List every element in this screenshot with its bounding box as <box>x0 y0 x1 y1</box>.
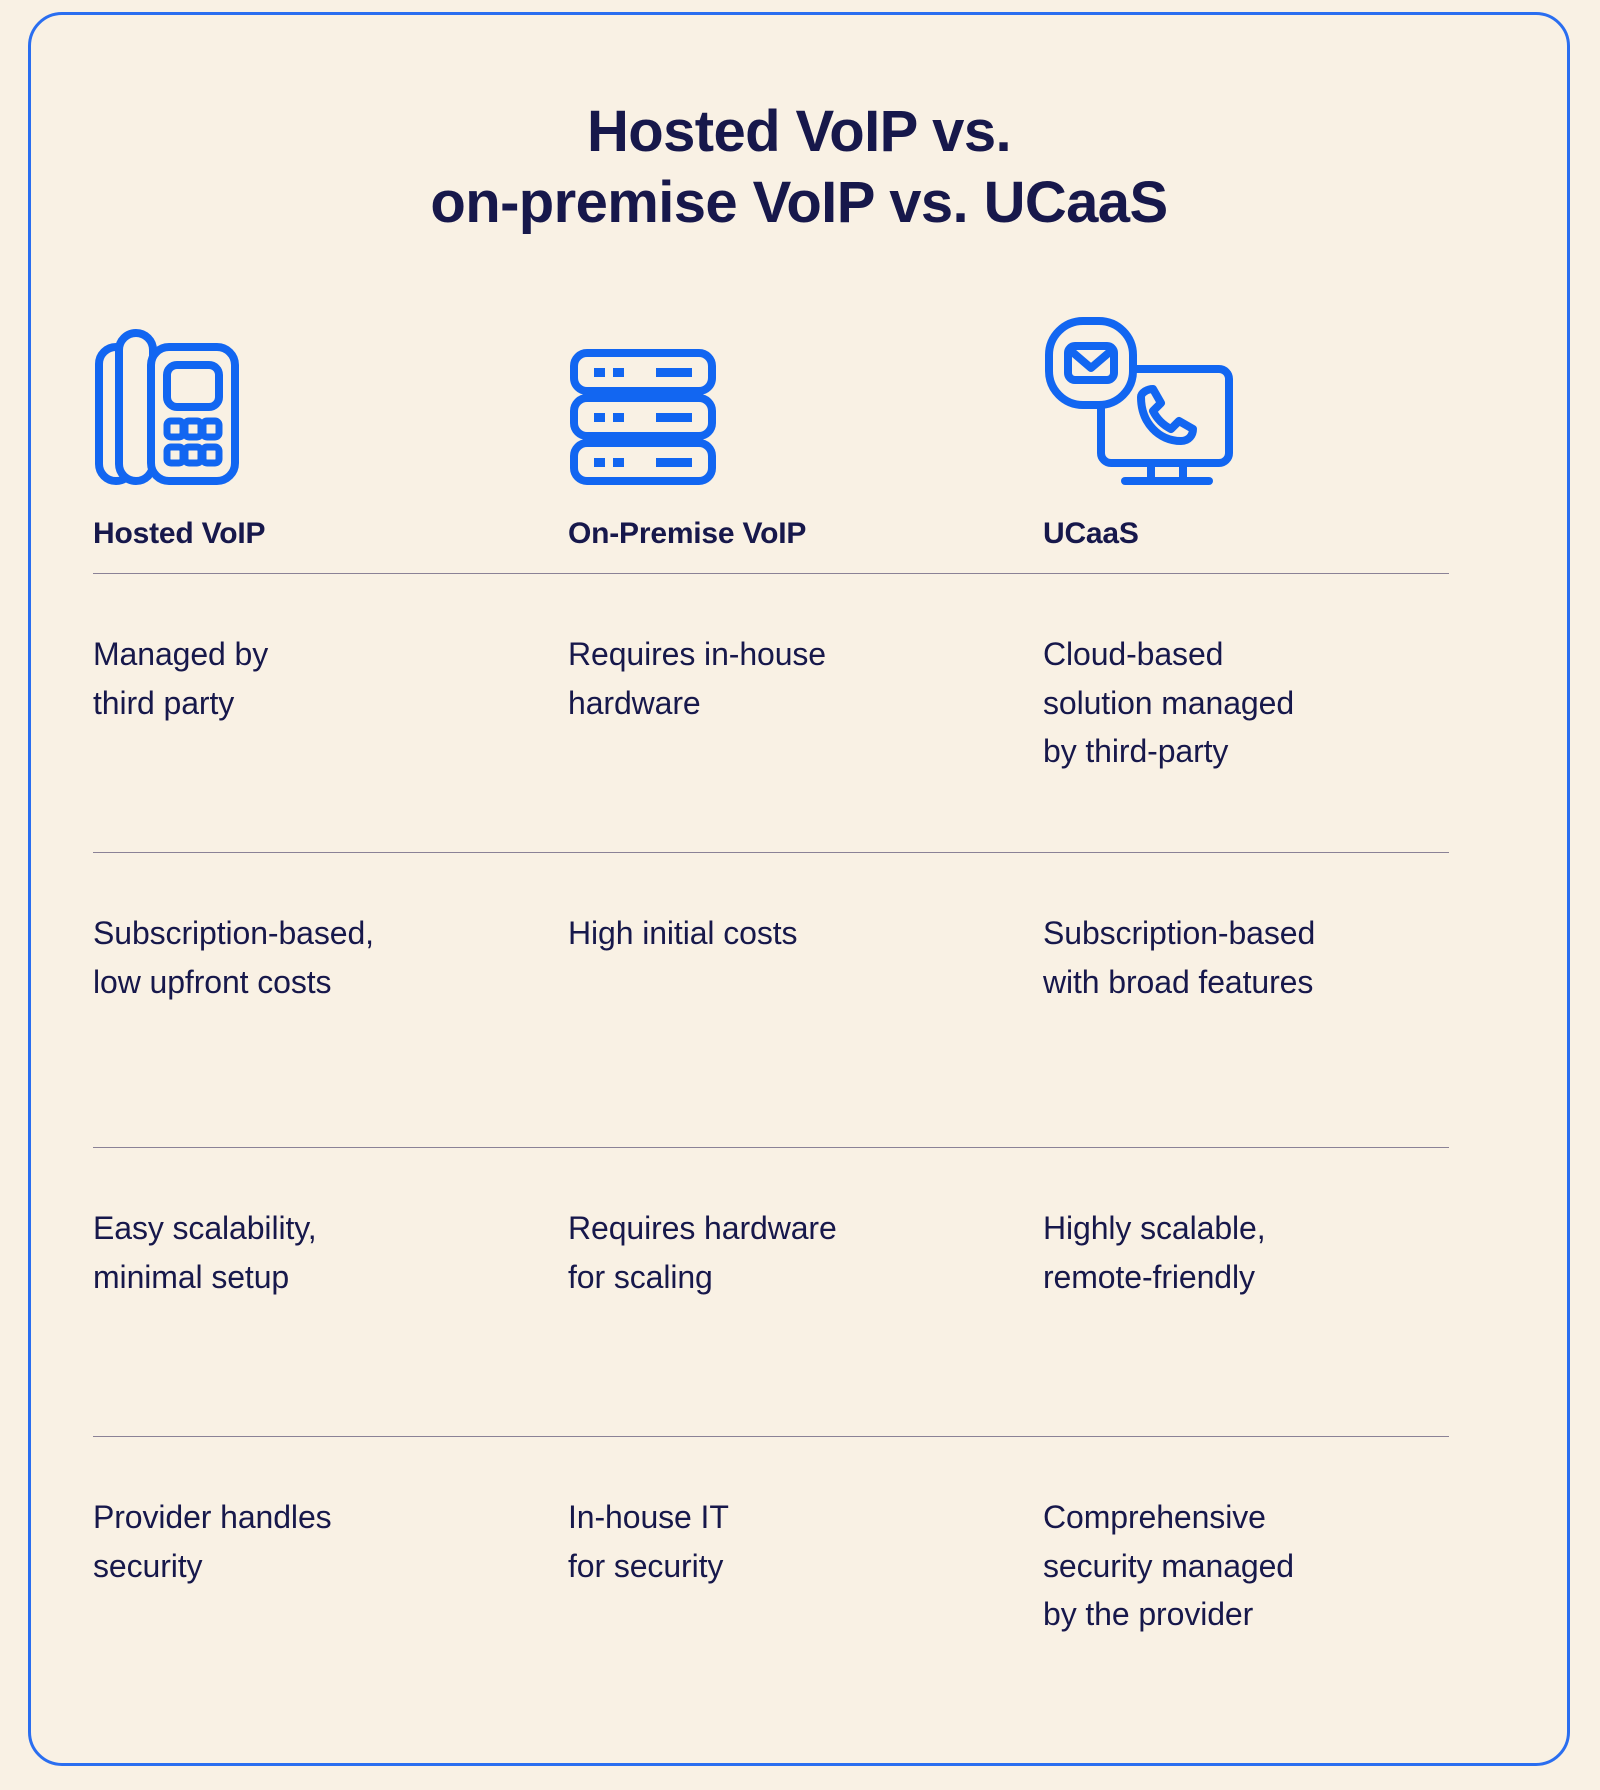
cell-on-premise-voip: Requires hardware for scaling <box>568 1204 1043 1436</box>
cell-hosted-voip: Easy scalability, minimal setup <box>93 1204 568 1436</box>
cell-hosted-voip: Provider handles security <box>93 1493 568 1693</box>
column-header-on-premise-voip: On-Premise VoIP <box>568 487 1043 573</box>
unified-communications-icon-cell <box>1043 305 1497 487</box>
column-header-hosted-voip: Hosted VoIP <box>93 487 568 573</box>
page-title-line-2: on-premise VoIP vs. UCaaS <box>249 168 1349 239</box>
comparison-card: Hosted VoIP vs. on-premise VoIP vs. UCaa… <box>28 12 1570 1766</box>
table-row: Provider handles security In-house IT fo… <box>93 1437 1497 1693</box>
cell-ucaas: Subscription-based with broad features <box>1043 909 1497 1147</box>
cell-ucaas: Highly scalable, remote-friendly <box>1043 1204 1497 1436</box>
desk-phone-icon <box>93 327 241 487</box>
page-title: Hosted VoIP vs. on-premise VoIP vs. UCaa… <box>249 15 1349 239</box>
cell-ucaas: Cloud-based solution managed by third-pa… <box>1043 630 1497 852</box>
table-row: Subscription-based, low upfront costs Hi… <box>93 853 1497 1147</box>
column-header-ucaas: UCaaS <box>1043 487 1497 573</box>
header-row: Hosted VoIP On-Premise VoIP UCaaS <box>93 487 1497 573</box>
cell-on-premise-voip: High initial costs <box>568 909 1043 1147</box>
cell-ucaas: Comprehensive security managed by the pr… <box>1043 1493 1497 1693</box>
server-rack-icon <box>568 347 718 487</box>
server-rack-icon-cell <box>568 305 1043 487</box>
cell-hosted-voip: Subscription-based, low upfront costs <box>93 909 568 1147</box>
unified-communications-icon <box>1043 315 1235 487</box>
cell-on-premise-voip: Requires in-house hardware <box>568 630 1043 852</box>
page-title-line-1: Hosted VoIP vs. <box>249 97 1349 168</box>
comparison-grid: Hosted VoIP On-Premise VoIP UCaaS Manage… <box>93 305 1497 1693</box>
table-row: Managed by third party Requires in-house… <box>93 574 1497 852</box>
desk-phone-icon-cell <box>93 305 568 487</box>
cell-on-premise-voip: In-house IT for security <box>568 1493 1043 1693</box>
icon-row <box>93 305 1497 487</box>
cell-hosted-voip: Managed by third party <box>93 630 568 852</box>
table-row: Easy scalability, minimal setup Requires… <box>93 1148 1497 1436</box>
